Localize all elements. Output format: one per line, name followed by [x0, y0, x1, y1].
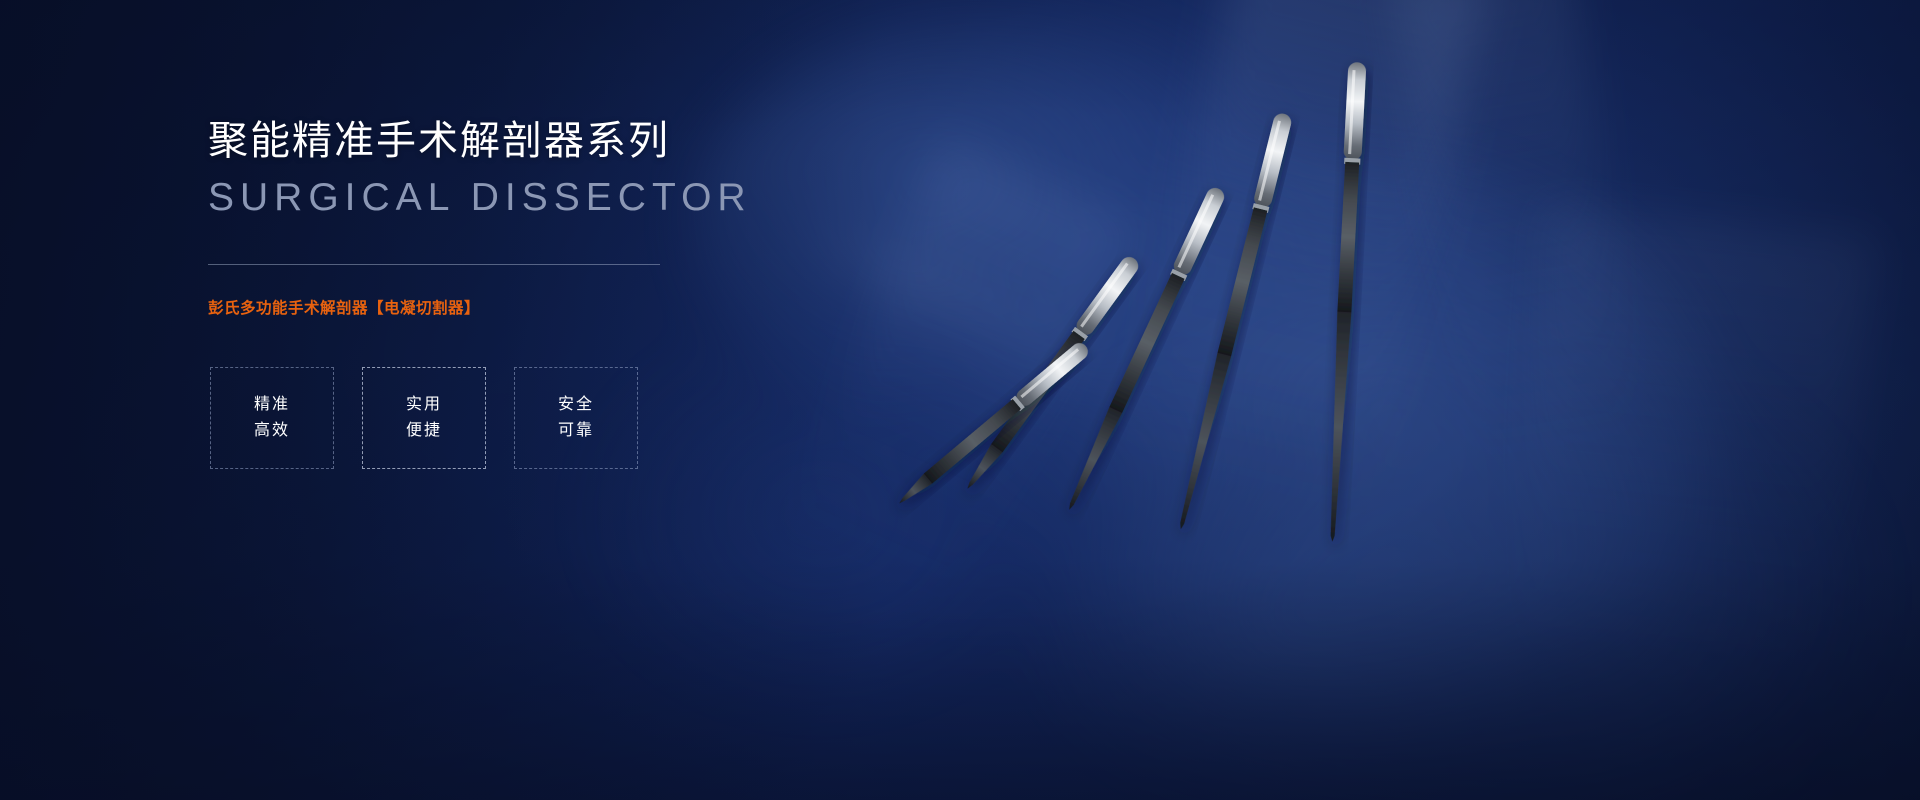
feature-box-3-line-1: 安全	[558, 396, 594, 414]
feature-box-2-line-1: 实用	[406, 396, 442, 414]
page-title: 聚能精准手术解剖器系列	[208, 118, 908, 165]
product-banner: 聚能精准手术解剖器系列 SURGICAL DISSECTOR 彭氏多功能手术解剖…	[0, 0, 1920, 800]
feature-box-1[interactable]: 精准 高效	[210, 367, 334, 469]
feature-box-2-line-2: 便捷	[406, 422, 442, 440]
feature-box-1-line-1: 精准	[254, 396, 290, 414]
feature-box-3[interactable]: 安全 可靠	[514, 367, 638, 469]
banner-copy: 聚能精准手术解剖器系列 SURGICAL DISSECTOR 彭氏多功能手术解剖…	[208, 118, 908, 318]
feature-box-1-line-2: 高效	[254, 422, 290, 440]
product-name-label: 彭氏多功能手术解剖器【电凝切割器】	[208, 296, 908, 318]
page-subtitle-en: SURGICAL DISSECTOR	[208, 177, 908, 220]
feature-box-3-line-2: 可靠	[558, 422, 594, 440]
divider-rule	[208, 264, 660, 265]
feature-box-group: 精准 高效 实用 便捷 安全 可靠	[210, 367, 638, 469]
feature-box-2[interactable]: 实用 便捷	[362, 367, 486, 469]
